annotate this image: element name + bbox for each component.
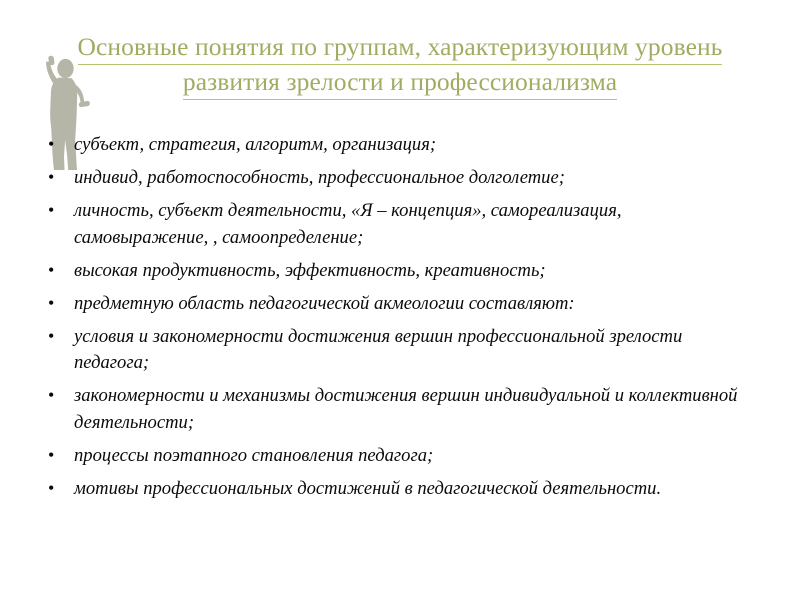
list-item: закономерности и механизмы достижения ве… — [44, 383, 756, 436]
list-item: предметную область педагогической акмеол… — [44, 291, 756, 318]
list-item: высокая продуктивность, эффективность, к… — [44, 258, 756, 285]
list-item-text: высокая продуктивность, эффективность, к… — [74, 260, 546, 281]
list-item-text: субъект, стратегия, алгоритм, организаци… — [74, 134, 436, 155]
list-item: процессы поэтапного становления педагога… — [44, 443, 756, 470]
list-item: индивид, работоспособность, профессионал… — [44, 165, 756, 192]
bullet-list: субъект, стратегия, алгоритм, организаци… — [44, 132, 756, 509]
list-item: условия и закономерности достижения верш… — [44, 324, 756, 377]
list-item-text: процессы поэтапного становления педагога… — [74, 445, 433, 466]
slide-title-line-1-text: Основные понятия по группам, характеризу… — [78, 30, 723, 65]
list-item-text: личность, субъект деятельности, «Я – кон… — [74, 200, 621, 248]
slide-title-line-2: развития зрелости и профессионализма — [55, 65, 745, 100]
list-item: личность, субъект деятельности, «Я – кон… — [44, 198, 756, 251]
list-item-text: закономерности и механизмы достижения ве… — [74, 385, 737, 433]
list-item: субъект, стратегия, алгоритм, организаци… — [44, 132, 756, 159]
slide-title-line-1: Основные понятия по группам, характеризу… — [55, 30, 745, 65]
list-item-text: условия и закономерности достижения верш… — [74, 326, 682, 374]
list-item-text: индивид, работоспособность, профессионал… — [74, 167, 565, 188]
slide-title-line-2-text: развития зрелости и профессионализма — [183, 65, 617, 100]
slide-title: Основные понятия по группам, характеризу… — [55, 30, 745, 100]
slide-canvas: Основные понятия по группам, характеризу… — [0, 0, 800, 600]
list-item: мотивы профессиональных достижений в пед… — [44, 476, 756, 503]
list-item-text: предметную область педагогической акмеол… — [74, 293, 575, 314]
list-item-text: мотивы профессиональных достижений в пед… — [74, 478, 661, 499]
